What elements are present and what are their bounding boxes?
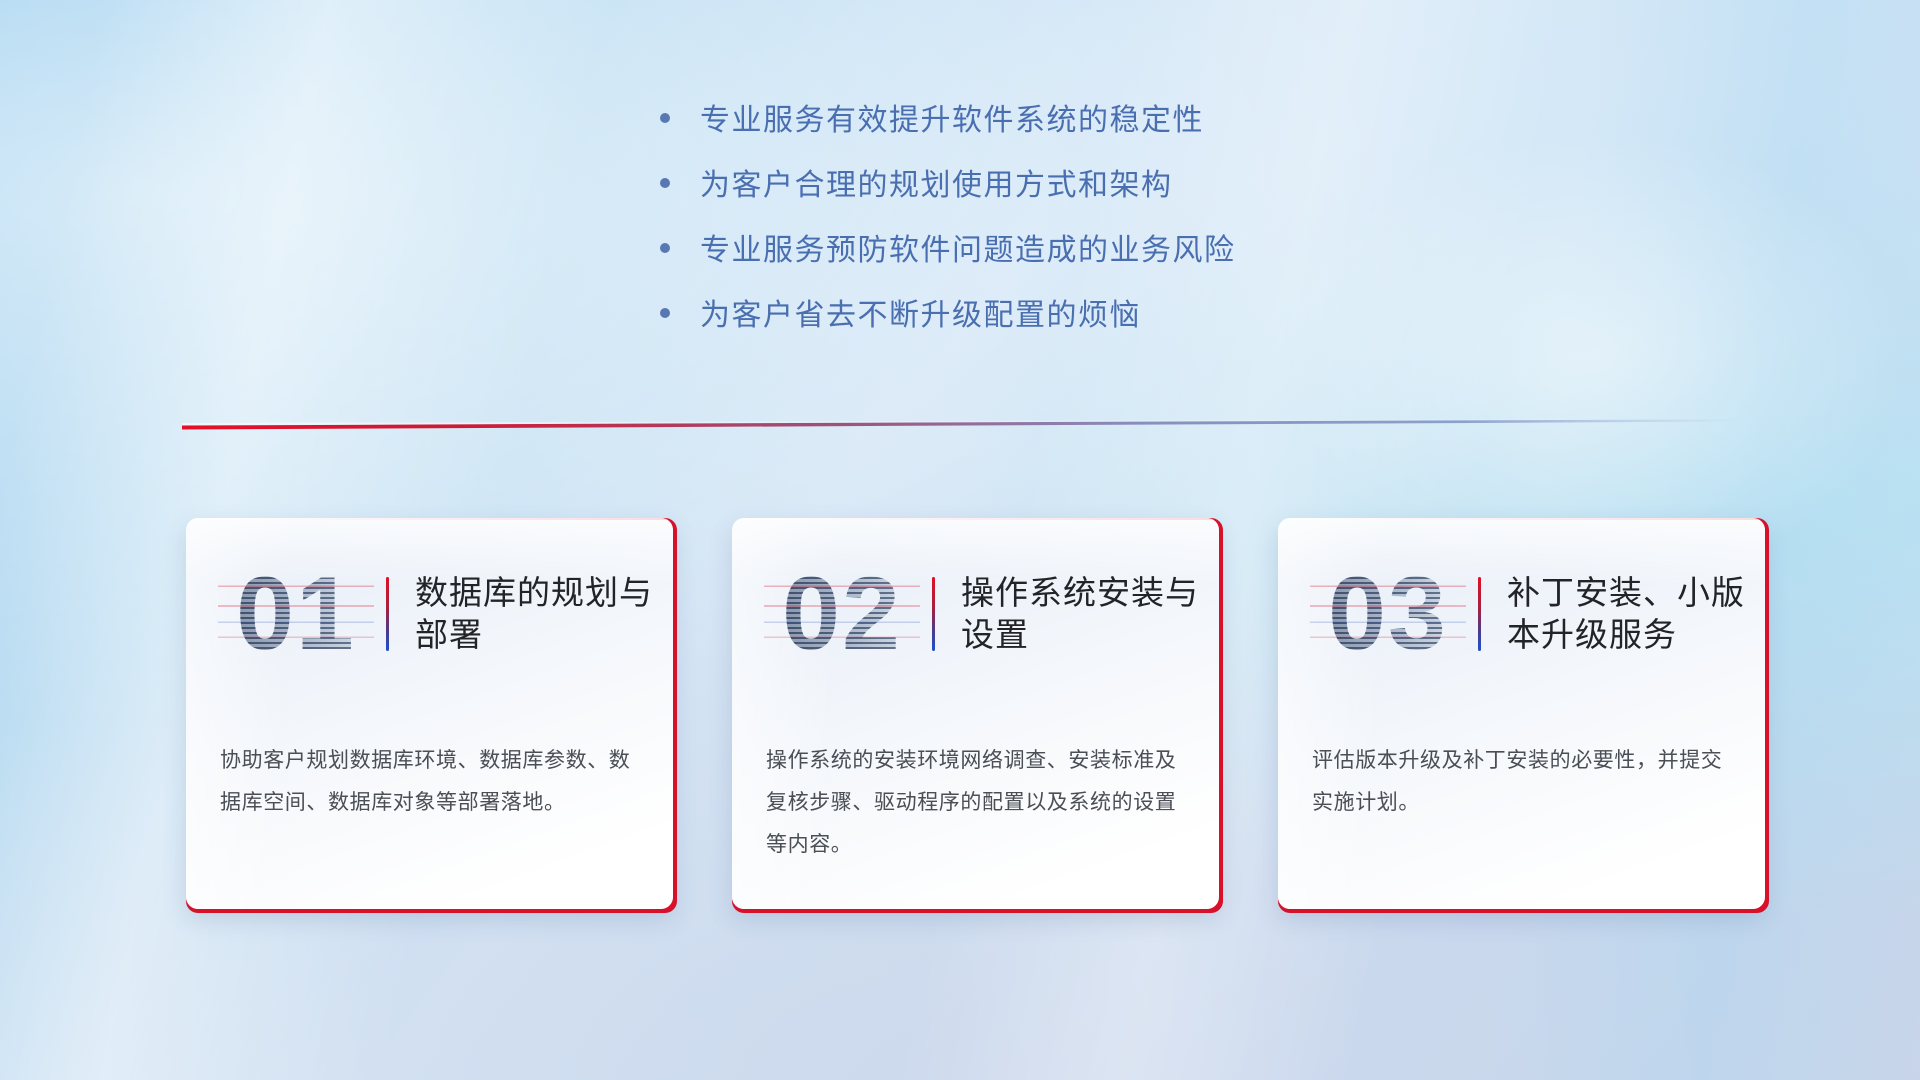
bullet-dot-icon	[660, 308, 670, 318]
bullet-text: 为客户省去不断升级配置的烦恼	[700, 299, 1141, 332]
list-item: 专业服务有效提升软件系统的稳定性	[660, 104, 1236, 137]
card-row: 01 数据库的规划与部署 协助客户规划数据库环境、数据库参数、数据库空间、数据库…	[186, 518, 1765, 909]
list-item: 为客户合理的规划使用方式和架构	[660, 169, 1236, 202]
card-header: 02 操作系统安装与设置	[732, 518, 1219, 684]
service-card-02[interactable]: 02 操作系统安装与设置 操作系统的安装环境网络调查、安装标准及复核步骤、驱动程…	[732, 518, 1219, 909]
card-title-rule	[932, 577, 935, 651]
card-title-rule	[1478, 577, 1481, 651]
list-item: 为客户省去不断升级配置的烦恼	[660, 299, 1236, 332]
bullet-text: 为客户合理的规划使用方式和架构	[700, 169, 1173, 202]
list-item: 专业服务预防软件问题造成的业务风险	[660, 234, 1236, 267]
bullet-dot-icon	[660, 113, 670, 123]
card-body-text: 操作系统的安装环境网络调查、安装标准及复核步骤、驱动程序的配置以及系统的设置等内…	[766, 740, 1185, 866]
card-body-text: 评估版本升级及补丁安装的必要性，并提交实施计划。	[1312, 740, 1731, 824]
bullet-dot-icon	[660, 243, 670, 253]
service-card-03[interactable]: 03 补丁安装、小版本升级服务 评估版本升级及补丁安装的必要性，并提交实施计划。	[1278, 518, 1765, 909]
bullet-list: 专业服务有效提升软件系统的稳定性 为客户合理的规划使用方式和架构 专业服务预防软…	[660, 104, 1236, 332]
card-title: 数据库的规划与部署	[415, 572, 673, 656]
card-body-text: 协助客户规划数据库环境、数据库参数、数据库空间、数据库对象等部署落地。	[220, 740, 639, 824]
bullet-text: 专业服务有效提升软件系统的稳定性	[700, 104, 1204, 137]
service-card-01[interactable]: 01 数据库的规划与部署 协助客户规划数据库环境、数据库参数、数据库空间、数据库…	[186, 518, 673, 909]
card-number-watermark: 03	[1306, 562, 1470, 666]
card-title-rule	[386, 577, 389, 651]
card-number-watermark: 01	[214, 562, 378, 666]
card-title: 补丁安装、小版本升级服务	[1507, 572, 1765, 656]
card-number-watermark: 02	[760, 562, 924, 666]
bullet-dot-icon	[660, 178, 670, 188]
bullet-text: 专业服务预防软件问题造成的业务风险	[700, 234, 1236, 267]
card-title: 操作系统安装与设置	[961, 572, 1219, 656]
card-header: 03 补丁安装、小版本升级服务	[1278, 518, 1765, 684]
section-divider	[182, 412, 1742, 434]
slide-canvas: 专业服务有效提升软件系统的稳定性 为客户合理的规划使用方式和架构 专业服务预防软…	[0, 0, 1920, 1080]
card-header: 01 数据库的规划与部署	[186, 518, 673, 684]
